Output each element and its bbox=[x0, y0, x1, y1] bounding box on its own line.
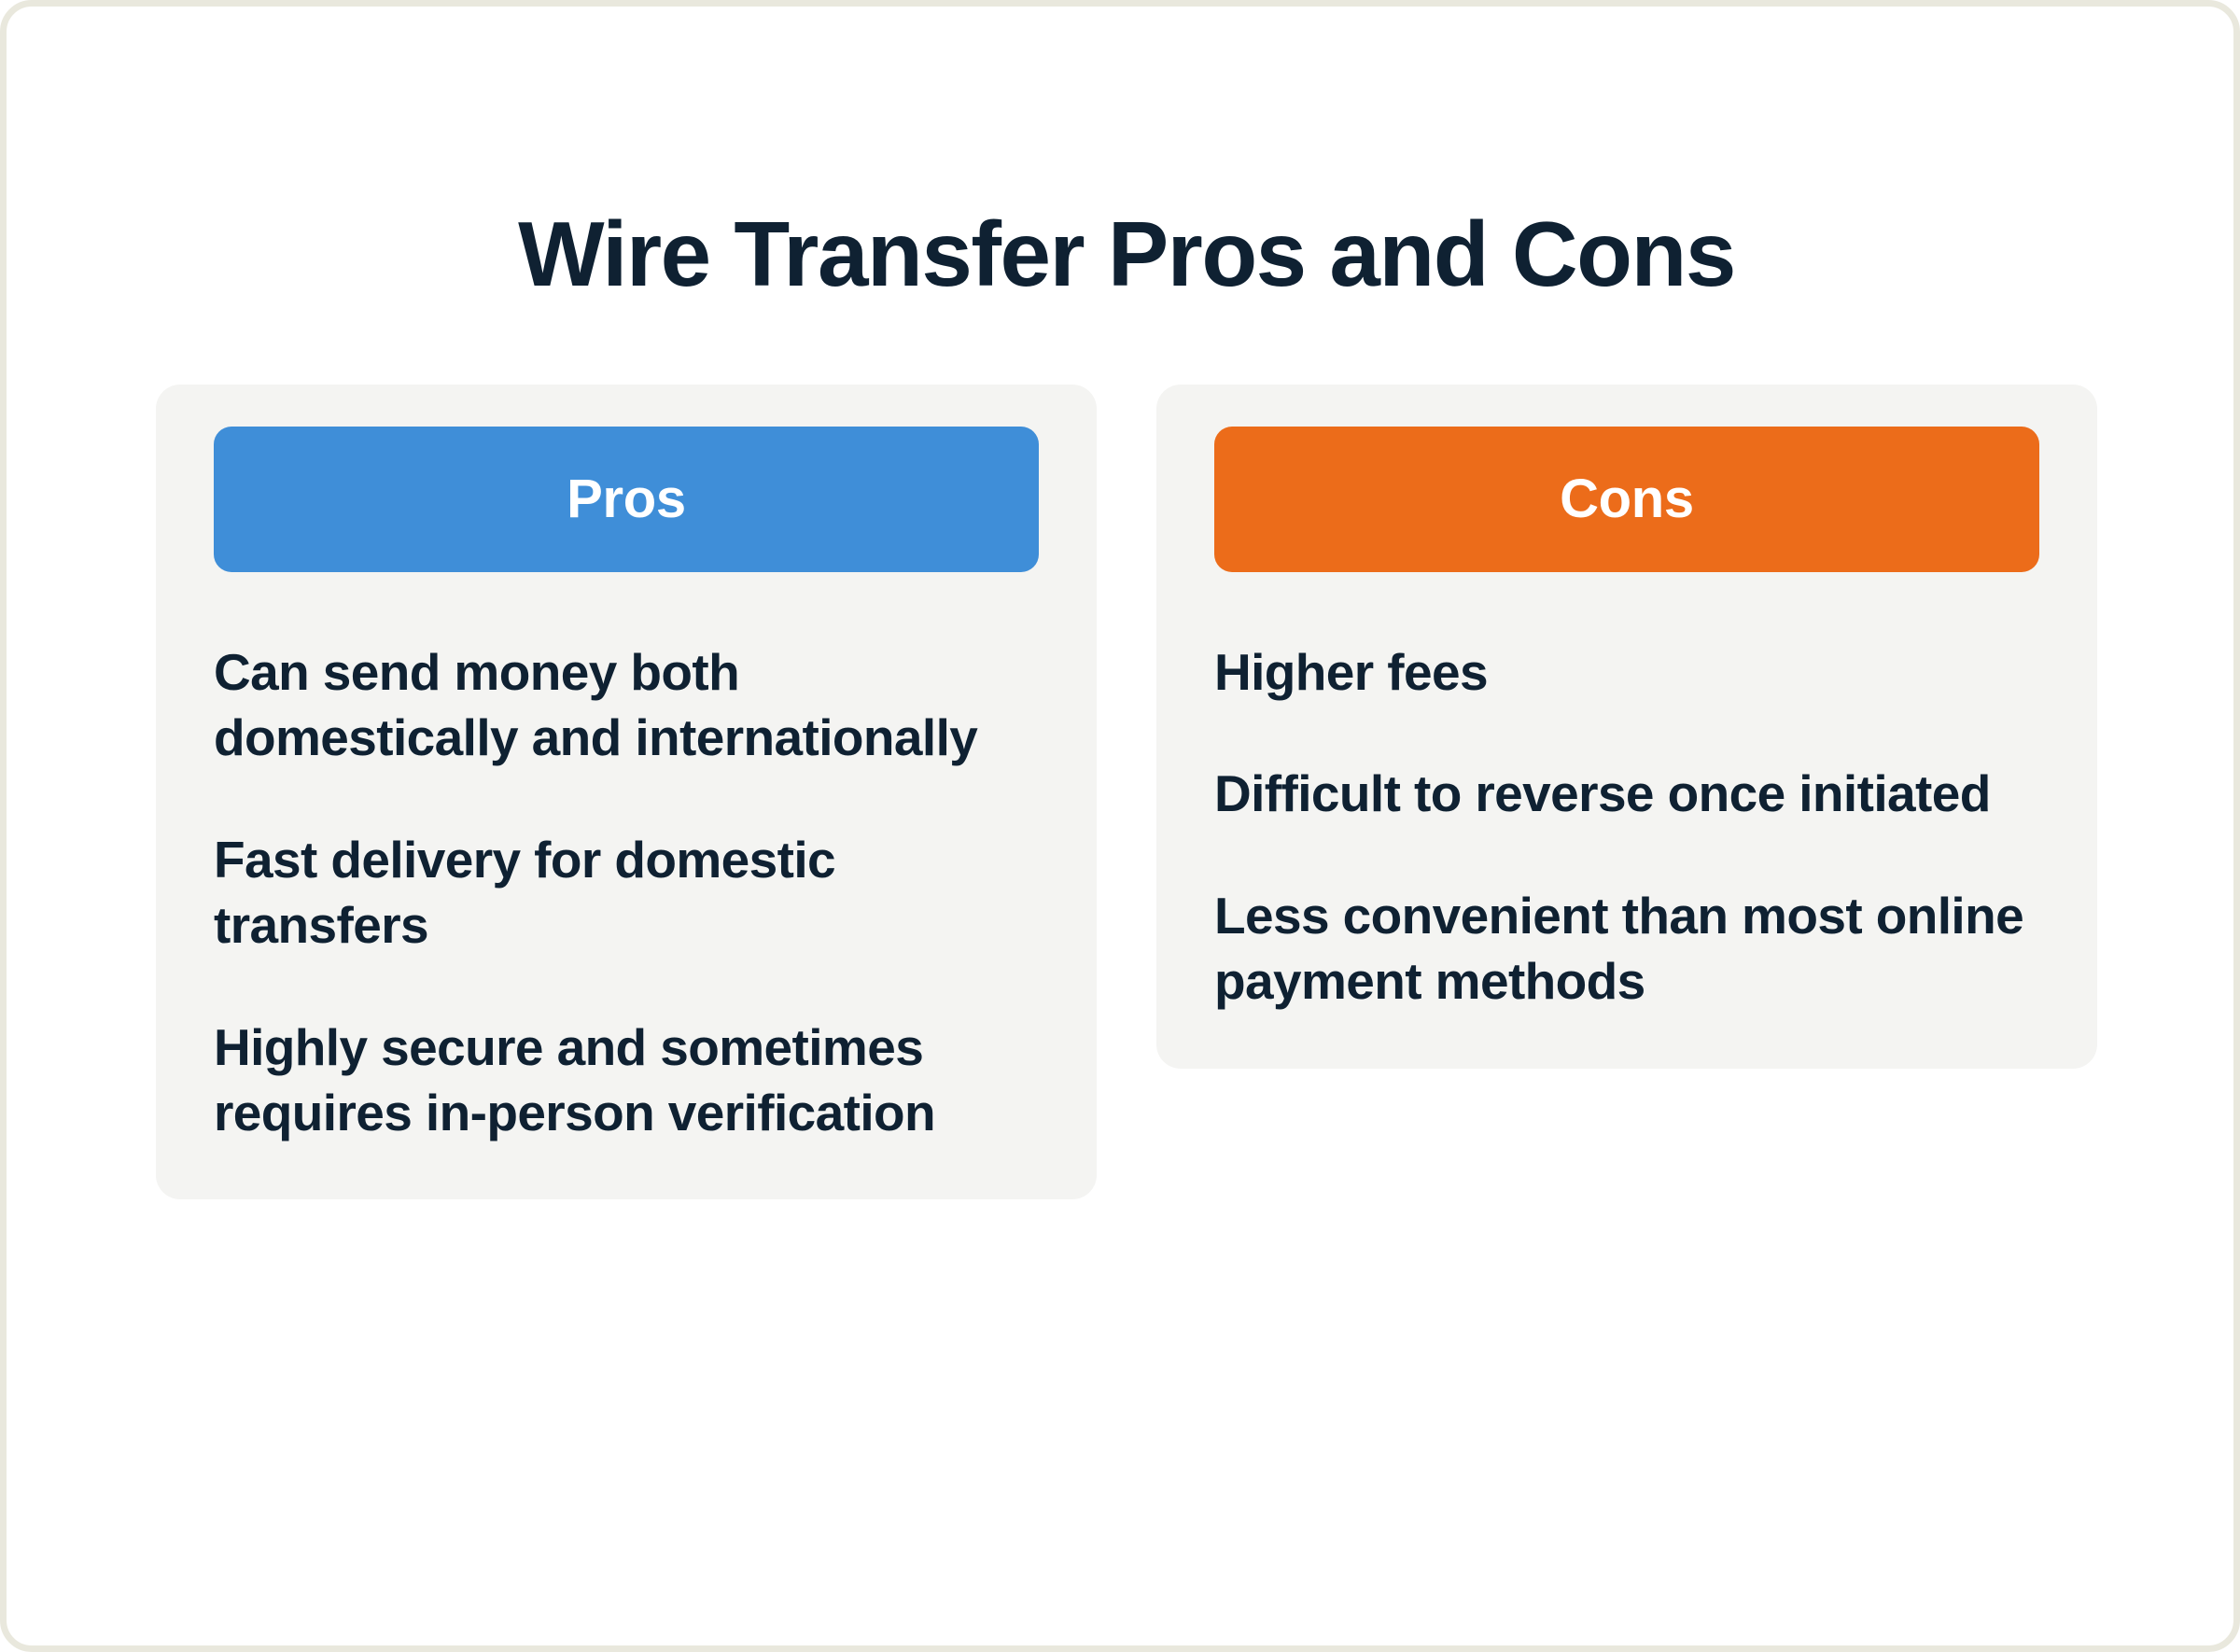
pros-item-text: Can send money both domestically and int… bbox=[214, 639, 1039, 771]
pros-list: Can send money both domestically and int… bbox=[214, 639, 1039, 1145]
list-item: Less convenient than most online payment… bbox=[1214, 883, 2039, 1015]
cons-item-text: Difficult to reverse once initiated bbox=[1214, 761, 2039, 826]
cons-card: Cons Higher fees Difficult to reverse on… bbox=[1156, 385, 2097, 1069]
page-frame: Wire Transfer Pros and Cons Pros Can sen… bbox=[0, 0, 2240, 1652]
list-item: Highly secure and sometimes requires in-… bbox=[214, 1015, 1039, 1146]
page-title: Wire Transfer Pros and Cons bbox=[7, 206, 2240, 302]
cons-badge: Cons bbox=[1214, 427, 2039, 572]
list-item: Difficult to reverse once initiated bbox=[1214, 761, 2039, 826]
cons-list: Higher fees Difficult to reverse once in… bbox=[1214, 639, 2039, 1015]
list-item: Can send money both domestically and int… bbox=[214, 639, 1039, 771]
list-item: Higher fees bbox=[1214, 639, 2039, 705]
pros-cons-columns: Pros Can send money both domestically an… bbox=[156, 385, 2097, 1199]
cons-item-text: Less convenient than most online payment… bbox=[1214, 883, 2039, 1015]
pros-badge: Pros bbox=[214, 427, 1039, 572]
pros-item-text: Highly secure and sometimes requires in-… bbox=[214, 1015, 1039, 1146]
pros-item-text: Fast delivery for domestic transfers bbox=[214, 827, 1039, 959]
list-item: Fast delivery for domestic transfers bbox=[214, 827, 1039, 959]
pros-card: Pros Can send money both domestically an… bbox=[156, 385, 1097, 1199]
cons-item-text: Higher fees bbox=[1214, 639, 2039, 705]
